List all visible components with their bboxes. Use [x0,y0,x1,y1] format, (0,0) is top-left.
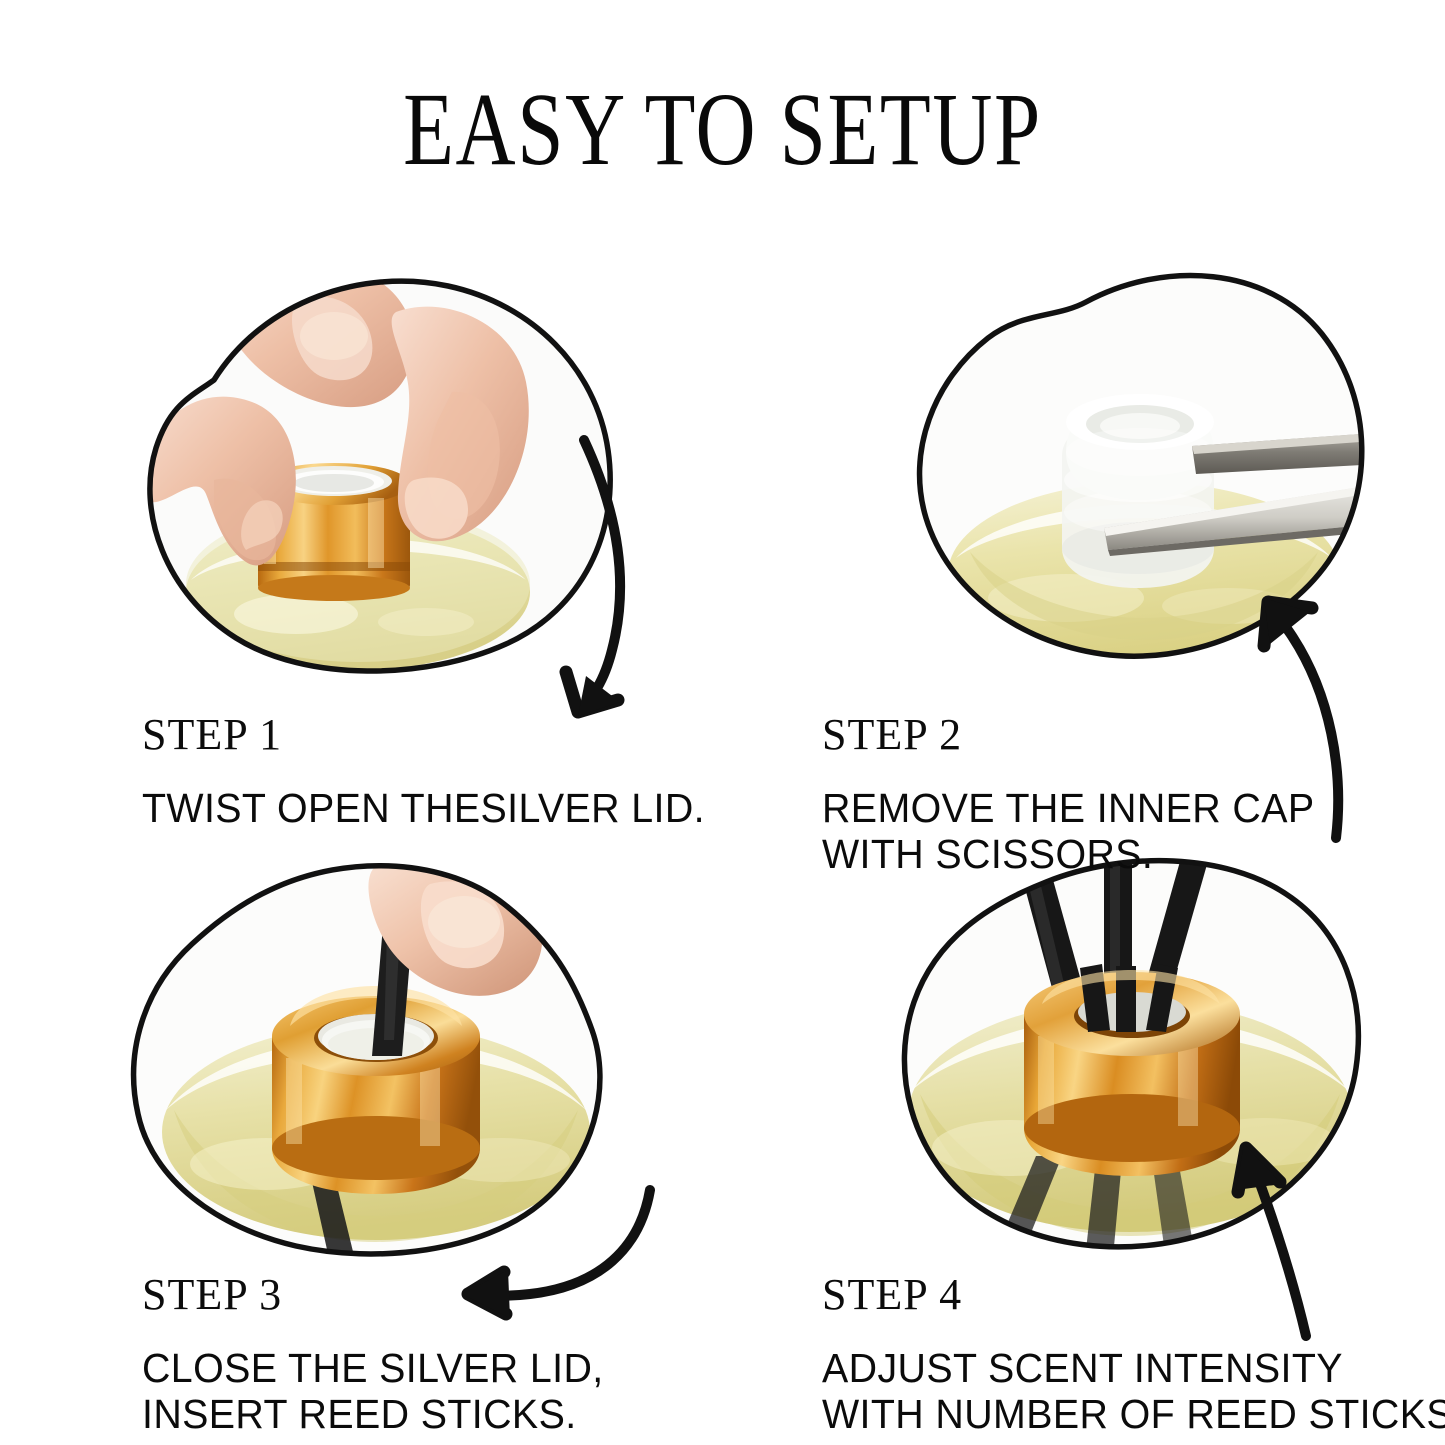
step-4-photo-content [866,840,1406,1280]
step-2-photo-content [876,262,1416,692]
step-2-photo [876,262,1416,692]
step-1-photo-content [96,259,656,692]
step-3-description-line1: CLOSE THE SILVER LID, [142,1345,604,1391]
step-2-description-line1: REMOVE THE INNER CAP [822,785,1314,831]
step-1-label: STEP 1 [142,712,728,758]
step-2-description-line2: WITH SCISSORS. [822,832,1314,878]
step-2-description: REMOVE THE INNER CAP WITH SCISSORS. [822,786,1314,878]
step-1-description-line1: TWIST OPEN THESILVER LID. [142,785,705,831]
step-4-description: ADJUST SCENT INTENSITY WITH NUMBER OF RE… [822,1346,1445,1438]
step-3-caption: STEP 3 CLOSE THE SILVER LID, INSERT REED… [142,1272,623,1438]
step-3-description: CLOSE THE SILVER LID, INSERT REED STICKS… [142,1346,604,1438]
step-4-photo [866,860,1406,1280]
step-3-label: STEP 3 [142,1272,623,1318]
page-title: EASY TO SETUP [145,78,1301,182]
step-4-description-line1: ADJUST SCENT INTENSITY [822,1345,1343,1391]
step-2-caption: STEP 2 REMOVE THE INNER CAP WITH SCISSOR… [822,712,1335,878]
step-3-photo-content [100,853,660,1280]
step-3-photo [100,860,660,1280]
step-4-caption: STEP 4 ADJUST SCENT INTENSITY WITH NUMBE… [822,1272,1445,1438]
step-3-description-line2: INSERT REED STICKS. [142,1392,604,1438]
step-2-label: STEP 2 [822,712,1335,758]
step-4-description-line2: WITH NUMBER OF REED STICKS [822,1392,1445,1438]
step-1-photo [96,262,656,692]
step-4-label: STEP 4 [822,1272,1445,1318]
step-1-description: TWIST OPEN THESILVER LID. [142,786,705,832]
easy-to-setup-infographic: EASY TO SETUP [0,0,1445,1445]
step-1-caption: STEP 1 TWIST OPEN THESILVER LID. [142,712,728,832]
